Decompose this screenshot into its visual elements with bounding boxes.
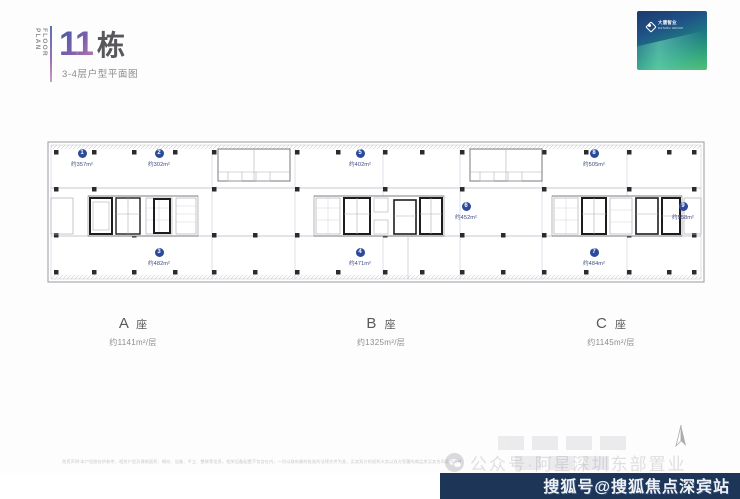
tower-area: 约1325m²/层 xyxy=(311,337,451,348)
floor-plan-vertical-label: FLOOR PLAN xyxy=(34,28,48,80)
unit-badge: 7 xyxy=(590,248,599,257)
page-header: FLOOR PLAN 11栋 3-4层户型平面图 大唐智业 DATANG GRO… xyxy=(0,0,740,110)
tower-suffix: 座 xyxy=(615,319,626,331)
north-arrow-icon xyxy=(670,424,692,450)
unit-area: 约471m² xyxy=(333,259,387,267)
tower-letter: B xyxy=(366,315,378,332)
unit-badge: 2 xyxy=(155,149,164,158)
disclaimer-text: 免责声明:本户型图仅供参考，相关户型及建筑面积、朝向、设备、平立、整装等信息，相… xyxy=(62,458,462,465)
developer-logo: 大唐智业 DATANG GROUP xyxy=(637,11,707,70)
lobby-bc xyxy=(470,149,542,181)
diamond-logo-icon xyxy=(644,20,655,31)
unit-badge: 4 xyxy=(356,248,365,257)
unit-area: 约558m² xyxy=(656,213,710,221)
unit-marker[interactable]: 4 约471m² xyxy=(333,248,387,267)
tower-suffix: 座 xyxy=(136,319,147,331)
logo-name-cn: 大唐智业 xyxy=(658,21,683,25)
unit-area: 约482m² xyxy=(132,259,186,267)
tower-letter: A xyxy=(119,315,130,332)
unit-marker[interactable]: 2 约302m² xyxy=(132,149,186,168)
tower-name: B 座 xyxy=(311,315,451,332)
unit-badge: 8 xyxy=(590,149,599,158)
unit-badge: 3 xyxy=(155,248,164,257)
floor-plan-drawing: 1 约357m² 2 约302m² 3 约482m² 4 约471m² 5 约4… xyxy=(42,136,710,288)
unit-area: 约484m² xyxy=(567,259,621,267)
unit-marker[interactable]: 7 约484m² xyxy=(567,248,621,267)
unit-area: 约452m² xyxy=(439,213,493,221)
unit-marker[interactable]: 9 约558m² xyxy=(656,202,710,221)
core-a xyxy=(88,196,198,236)
unit-marker[interactable]: 1 约357m² xyxy=(55,149,109,168)
unit-marker[interactable]: 5 约402m² xyxy=(333,149,387,168)
bottom-bar: 搜狐号@搜狐焦点深宾站 xyxy=(0,473,740,499)
building-number: 11 xyxy=(59,25,93,63)
logo-name-en: DATANG GROUP xyxy=(658,27,683,30)
tower-caption-c: C 座 约1145m²/层 xyxy=(541,315,681,348)
floorplan-page: FLOOR PLAN 11栋 3-4层户型平面图 大唐智业 DATANG GRO… xyxy=(0,0,740,499)
tower-name: A 座 xyxy=(63,315,203,332)
unit-badge: 9 xyxy=(679,202,688,211)
lobby-ab xyxy=(218,149,290,181)
title-accent-rule xyxy=(50,26,52,82)
wechat-account-text: 公众号·阿星深圳东部置业 xyxy=(470,450,687,475)
building-unit-label: 栋 xyxy=(97,30,124,61)
tower-caption-b: B 座 约1325m²/层 xyxy=(311,315,451,348)
wechat-watermark: 公众号·阿星深圳东部置业 xyxy=(445,450,687,475)
unit-area: 约357m² xyxy=(55,160,109,168)
tower-area: 约1145m²/层 xyxy=(541,337,681,348)
watermark-grid-pattern xyxy=(498,436,678,470)
unit-marker[interactable]: 3 约482m² xyxy=(132,248,186,267)
unit-badge: 1 xyxy=(78,149,87,158)
unit-badge: 5 xyxy=(356,149,365,158)
tower-suffix: 座 xyxy=(385,319,396,331)
logo-content: 大唐智业 DATANG GROUP xyxy=(644,20,683,31)
unit-marker[interactable]: 8 约505m² xyxy=(567,149,621,168)
unit-badge: 6 xyxy=(462,202,471,211)
logo-text-block: 大唐智业 DATANG GROUP xyxy=(658,21,683,30)
tower-letter: C xyxy=(596,315,609,332)
unit-area: 约505m² xyxy=(567,160,621,168)
unit-area: 约402m² xyxy=(333,160,387,168)
tower-area: 约1141m²/层 xyxy=(63,337,203,348)
bottom-bar-left-fill xyxy=(0,473,440,499)
page-subtitle: 3-4层户型平面图 xyxy=(62,66,138,80)
unit-area: 约302m² xyxy=(132,160,186,168)
sohu-watermark-text: 搜狐号@搜狐焦点深宾站 xyxy=(543,473,730,497)
unit-marker[interactable]: 6 约452m² xyxy=(439,202,493,221)
tower-caption-a: A 座 约1141m²/层 xyxy=(63,315,203,348)
tower-name: C 座 xyxy=(541,315,681,332)
page-title: 11栋 xyxy=(59,25,124,65)
